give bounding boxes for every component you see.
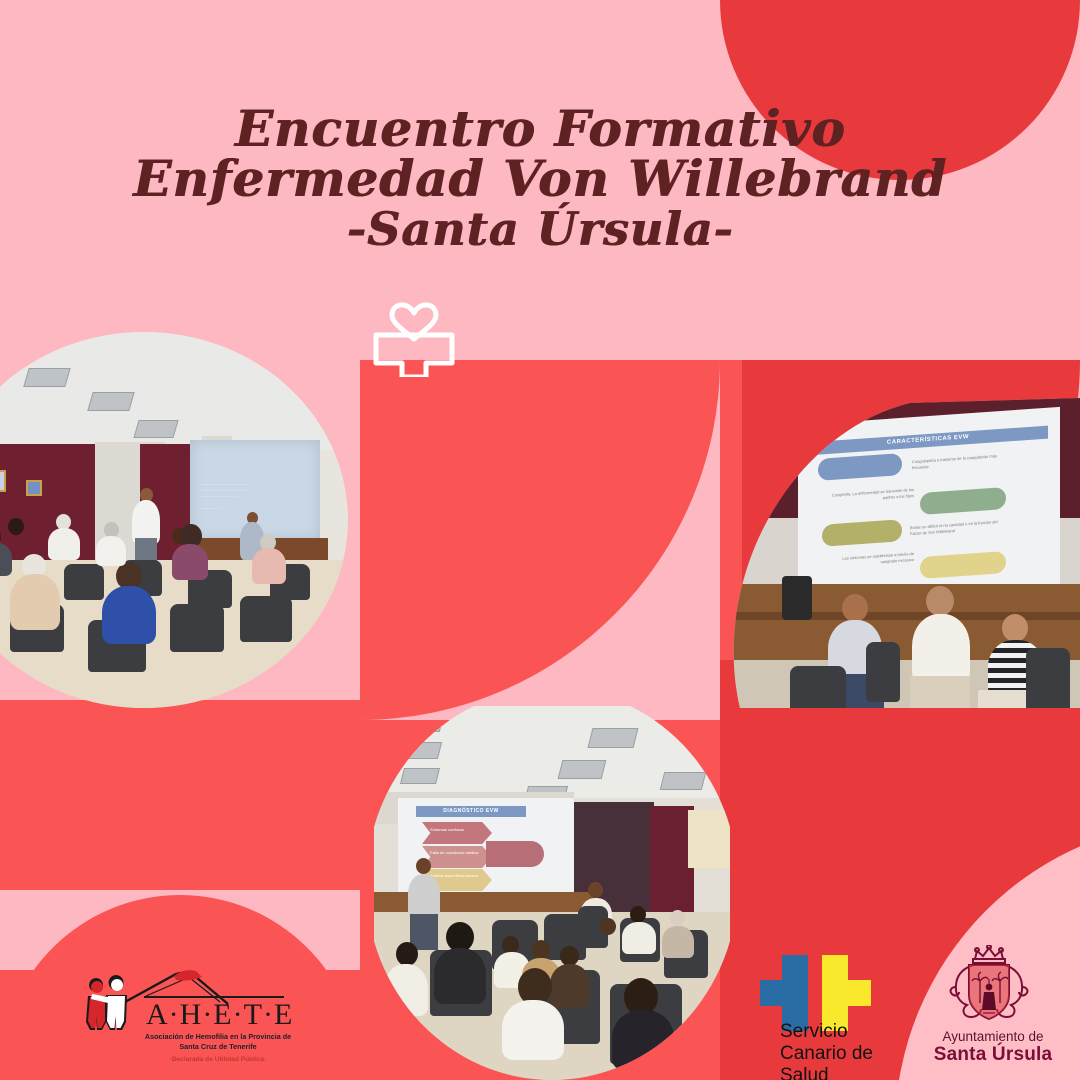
poster-title: Encuentro Formativo Enfermedad Von Wille… [0, 104, 1080, 254]
ahete-wordmark: A·H·E·T·E [146, 998, 293, 1032]
logo-ayuntamiento-santa-ursula: Ayuntamiento de Santa Úrsula [918, 945, 1068, 1070]
title-line-2: Enfermedad Von Willebrand [0, 154, 1080, 204]
photo-audience-room: ────────────────────────────────────────… [0, 332, 360, 708]
ahete-utilidad-publica: ·Declarada de Utilidad Pública· [138, 1056, 298, 1063]
photo-presentation-room: DIAGNÓSTICO EVW Síntomas confusos Falta … [374, 706, 730, 1080]
coat-of-arms-icon [943, 945, 1043, 1027]
heart-on-cross-icon [372, 285, 456, 377]
bg-quarter-red [360, 360, 720, 720]
scs-label: Servicio Canario de Salud [780, 1021, 920, 1080]
logo-ahete: A·H·E·T·E Asociación de Hemofilia en la … [78, 966, 288, 1070]
poster-canvas: Encuentro Formativo Enfermedad Von Wille… [0, 0, 1080, 1080]
ayto-label-bottom: Santa Úrsula [918, 1044, 1068, 1066]
slide-title-diagnostico: DIAGNÓSTICO EVW [416, 806, 526, 817]
ayto-label-top: Ayuntamiento de [918, 1029, 1068, 1044]
title-line-3: -Santa Úrsula- [0, 204, 1080, 254]
photo-panel-speakers: CARACTERÍSTICAS EVW Coagulopatía o trast… [730, 398, 1080, 708]
bg-cell-r1c1 [360, 360, 720, 720]
ahete-subtitle: Asociación de Hemofilia en la Provincia … [138, 1032, 298, 1051]
title-line-1: Encuentro Formativo [0, 104, 1080, 154]
logo-servicio-canario-salud: Servicio Canario de Salud [760, 955, 920, 1070]
